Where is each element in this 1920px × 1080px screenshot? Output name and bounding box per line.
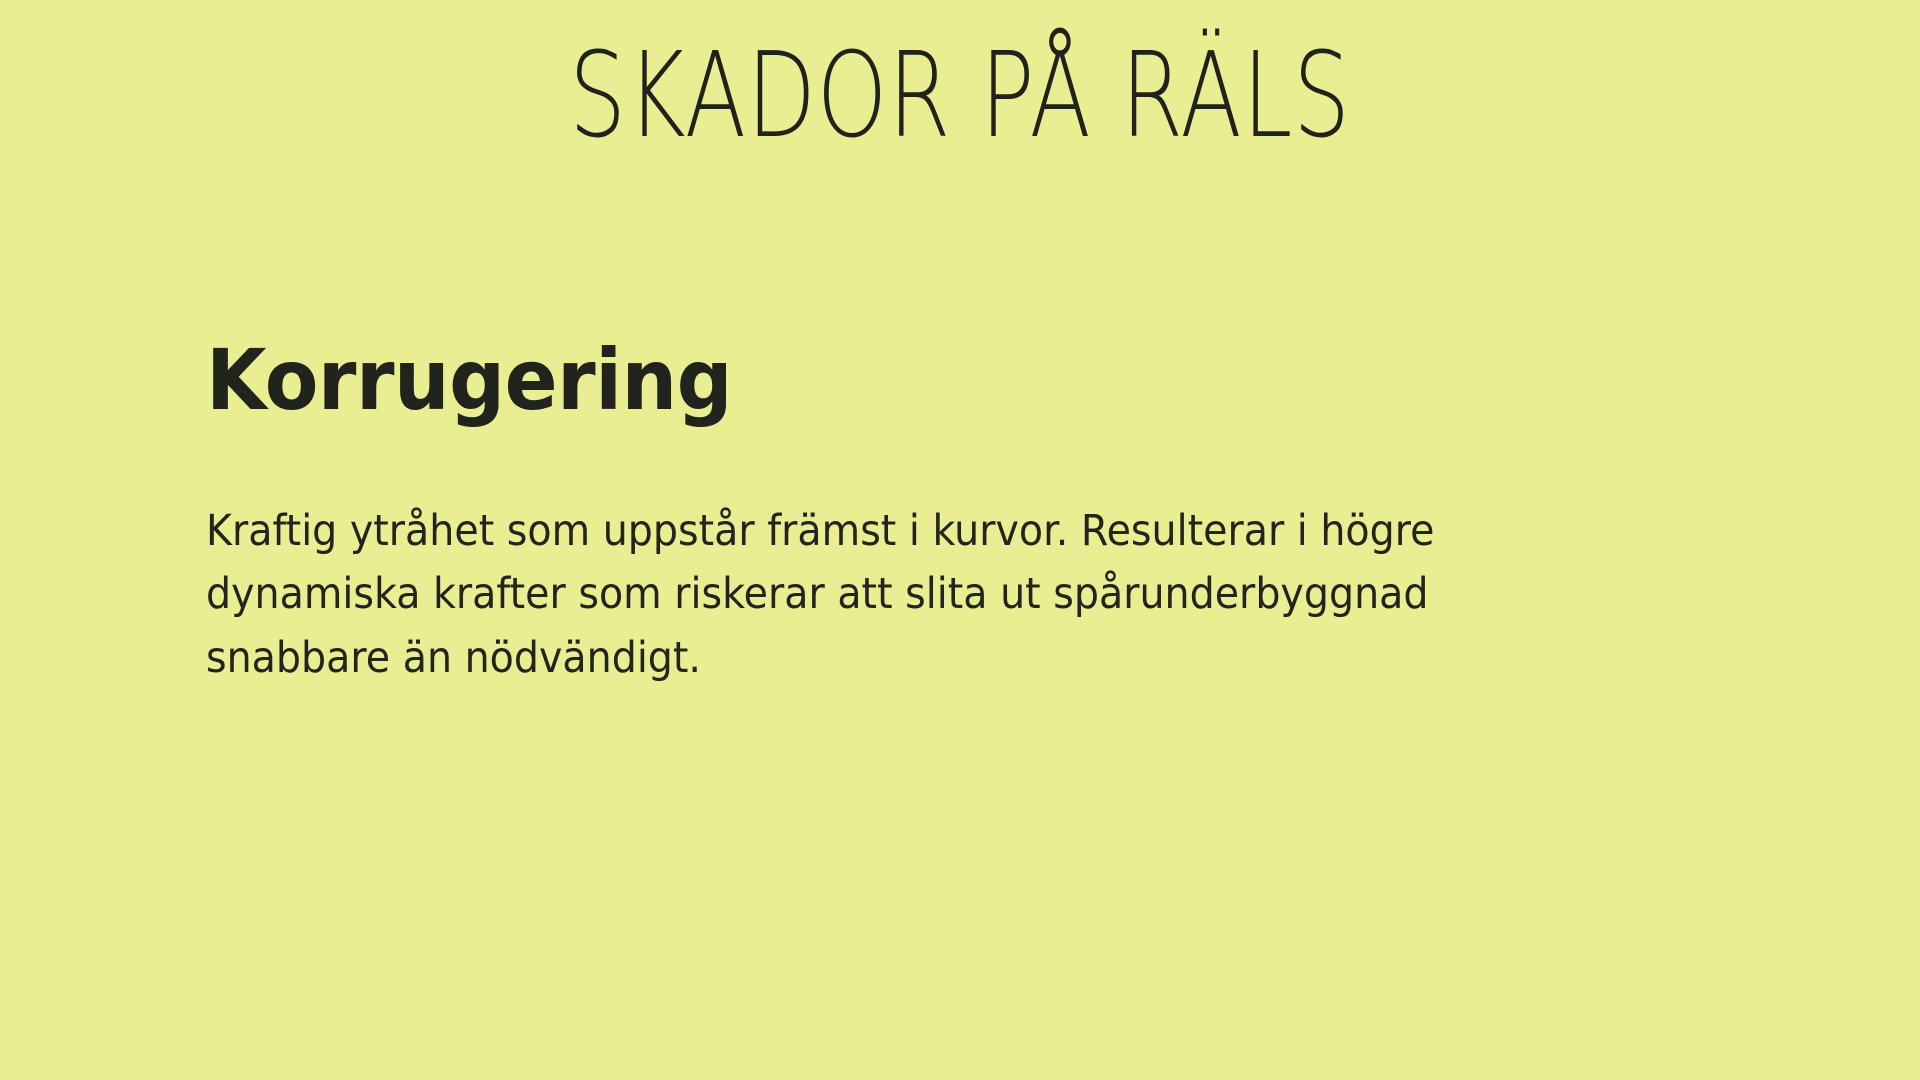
slide-root: SKADOR PÅ RÄLS Korrugering Kraftig ytråh…: [0, 0, 1920, 1080]
content-body-text: Kraftig ytråhet som uppstår främst i kur…: [206, 424, 1522, 691]
content-heading: Korrugering: [206, 338, 1564, 424]
content-block: Korrugering Kraftig ytråhet som uppstår …: [206, 338, 1666, 691]
slide-title: SKADOR PÅ RÄLS: [230, 26, 1689, 165]
